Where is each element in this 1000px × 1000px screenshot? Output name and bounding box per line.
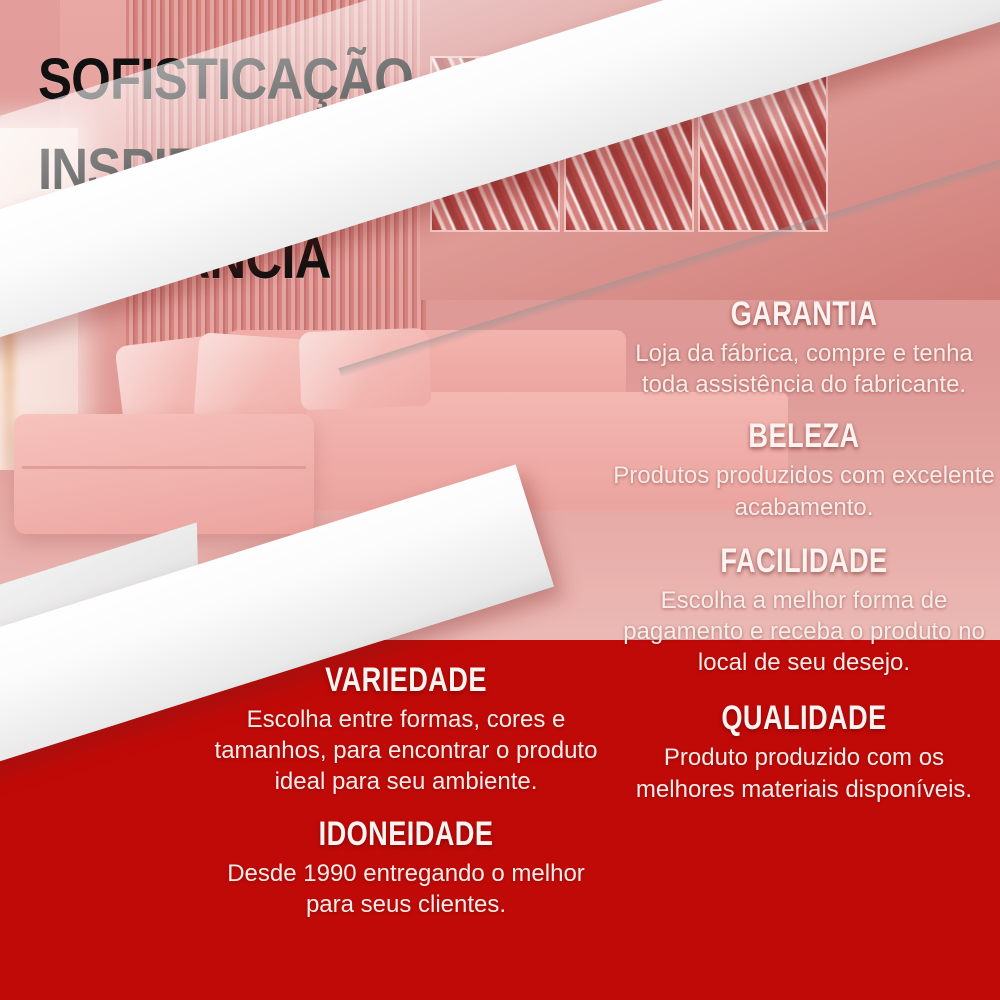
- feature-garantia: GARANTIA Loja da fábrica, compre e tenha…: [612, 296, 996, 400]
- feature-beleza: BELEZA Produtos produzidos com excelente…: [612, 418, 996, 522]
- feature-title: FACILIDADE: [650, 543, 957, 579]
- feature-title: GARANTIA: [650, 296, 957, 332]
- feature-facilidade: FACILIDADE Escolha a melhor forma de pag…: [612, 543, 996, 679]
- feature-body: Produto produzido com os melhores materi…: [612, 742, 996, 804]
- feature-body: Produtos produzidos com excelente acabam…: [612, 460, 996, 522]
- feature-body: Desde 1990 entregando o melhor para seus…: [212, 858, 600, 920]
- feature-body: Loja da fábrica, compre e tenha toda ass…: [612, 338, 996, 400]
- feature-body: Escolha entre formas, cores e tamanhos, …: [212, 704, 600, 798]
- promo-poster: SOFISTICAÇÃO INSPIRAÇÃO ELEGÂNCIA GARANT…: [0, 0, 1000, 1000]
- feature-title: VARIEDADE: [251, 662, 561, 698]
- feature-qualidade: QUALIDADE Produto produzido com os melho…: [612, 700, 996, 804]
- feature-idoneidade: IDONEIDADE Desde 1990 entregando o melho…: [212, 816, 600, 920]
- feature-title: IDONEIDADE: [251, 816, 561, 852]
- feature-column-right: GARANTIA Loja da fábrica, compre e tenha…: [612, 296, 996, 805]
- feature-variedade: VARIEDADE Escolha entre formas, cores e …: [212, 662, 600, 798]
- feature-title: QUALIDADE: [650, 700, 957, 736]
- feature-title: BELEZA: [650, 418, 957, 454]
- feature-column-left: VARIEDADE Escolha entre formas, cores e …: [212, 662, 600, 920]
- feature-body: Escolha a melhor forma de pagamento e re…: [612, 585, 996, 679]
